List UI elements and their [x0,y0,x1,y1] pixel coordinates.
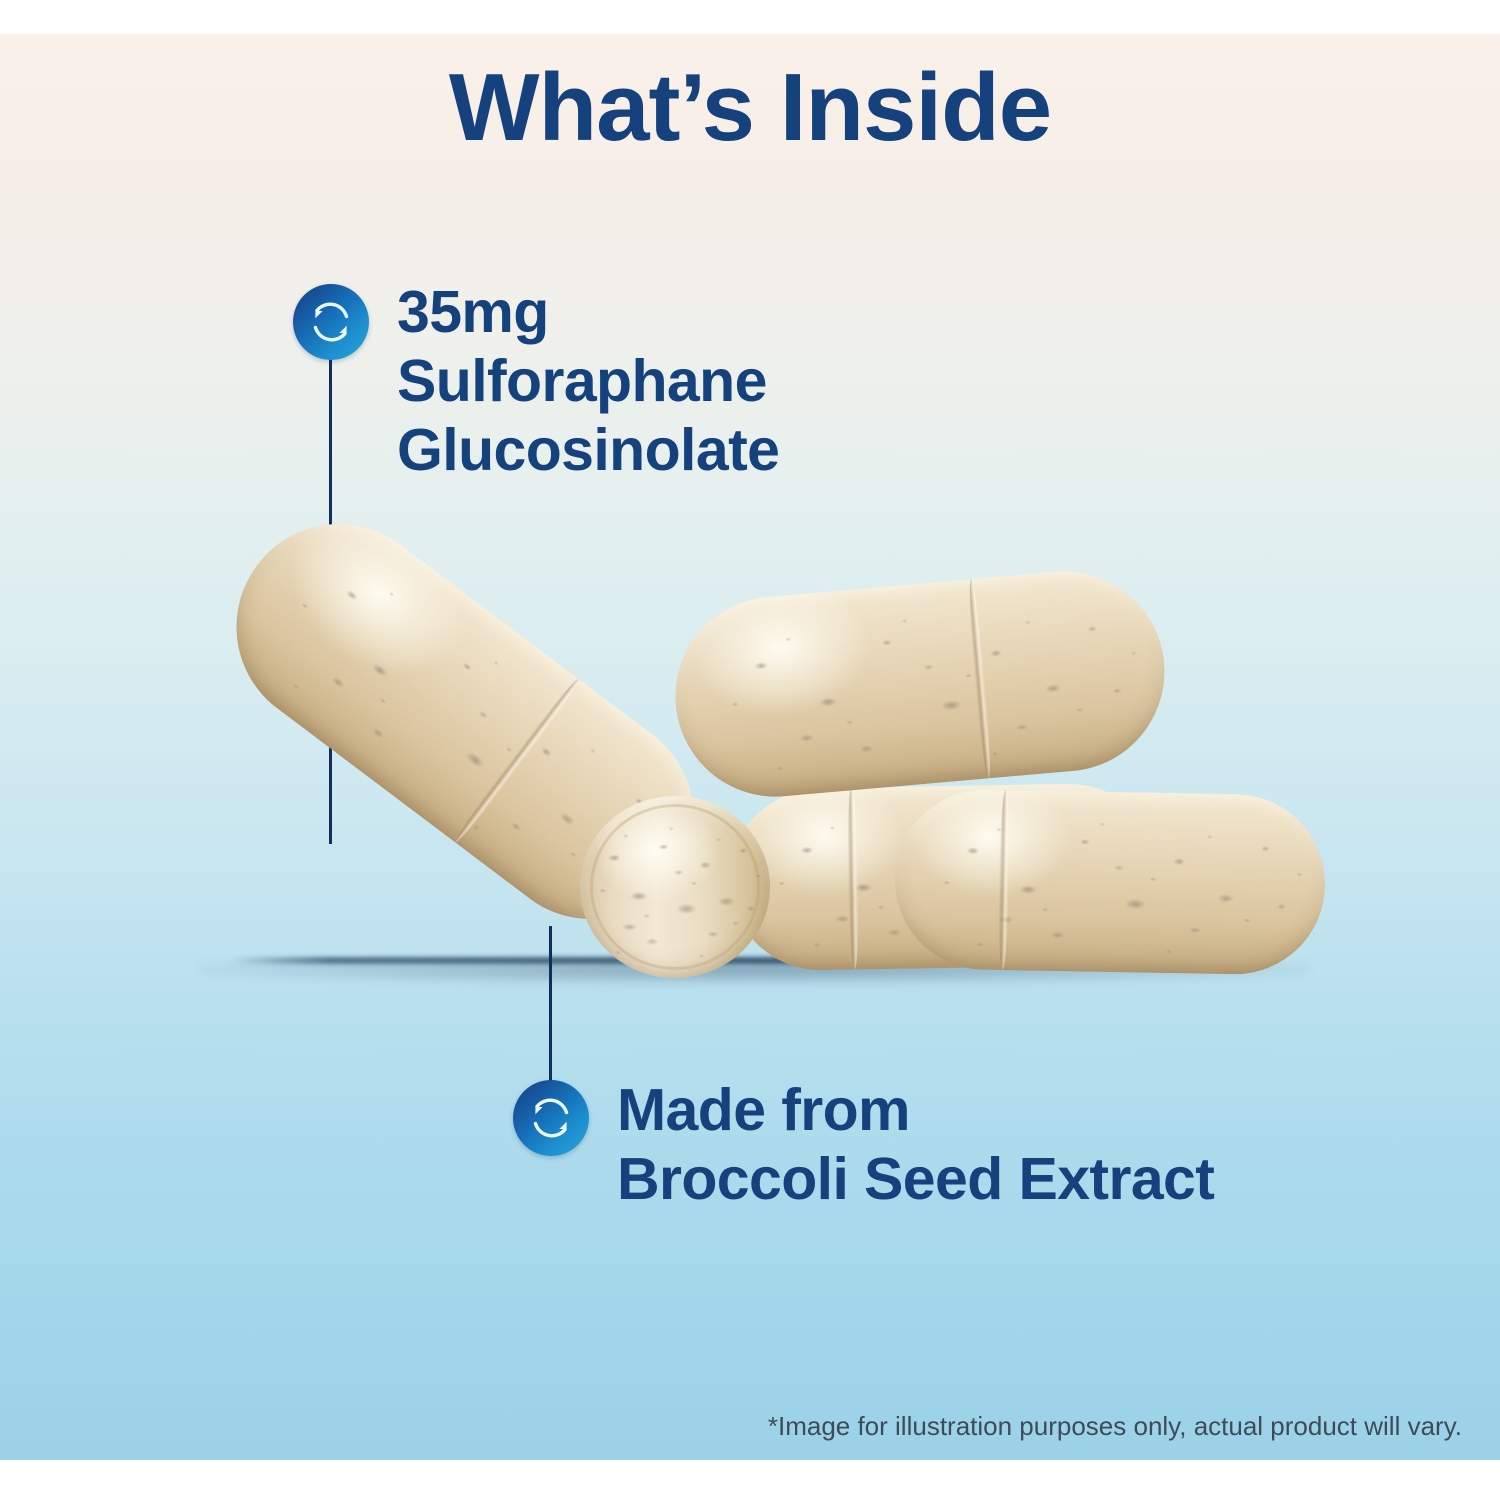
page-title: What’s Inside [0,58,1500,159]
refresh-cycle-icon [513,1080,589,1156]
leader-line-broccoli [549,926,552,1086]
capsule-product-image [175,574,1345,1004]
capsule-seam [966,579,993,779]
capsule-seam [451,676,582,846]
capsule-end-on [580,796,770,978]
capsule-seam [997,790,1010,970]
gradient-background: What’s Inside 35mg Sulforaphane Glucosin… [0,34,1500,1460]
capsule-rim [590,804,760,970]
capsule-seam [846,788,859,970]
disclaimer-footnote: *Image for illustration purposes only, a… [768,1410,1462,1443]
callout-broccoli-seed-label: Made from Broccoli Seed Extract [617,1076,1214,1214]
callout-broccoli-seed: Made from Broccoli Seed Extract [513,1080,1214,1214]
capsule-right-front [893,788,1326,975]
callout-sulforaphane: 35mg Sulforaphane Glucosinolate [293,284,779,485]
refresh-cycle-icon [293,284,369,360]
capsule-top-horizontal [667,563,1173,805]
callout-sulforaphane-label: 35mg Sulforaphane Glucosinolate [397,278,779,485]
whats-inside-infographic: What’s Inside 35mg Sulforaphane Glucosin… [0,0,1500,1500]
